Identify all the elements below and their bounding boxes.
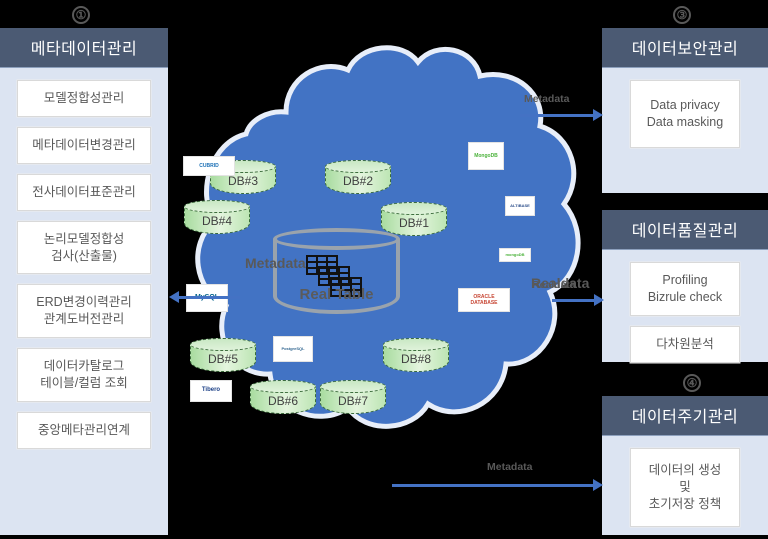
arrow-metadata-to-security	[520, 114, 594, 117]
panel-lifecycle-body: 데이터의 생성 및 초기저장 정책	[602, 436, 768, 539]
arrow-label-realdata: Realdata	[532, 279, 576, 291]
logo-oracle-icon: ORACLE DATABASE	[458, 288, 510, 312]
logo-postgresql-icon: PostgreSQL	[273, 336, 313, 362]
step-marker-4: ④	[683, 374, 701, 392]
db-cylinder-label: DB#4	[184, 214, 250, 228]
db-cylinder-label: DB#7	[320, 394, 386, 408]
panel-metadata-management: 메타데이터관리 모델정합성관리 메타데이터변경관리 전사데이터표준관리 논리모델…	[0, 28, 168, 535]
db-cylinder-label: DB#3	[210, 174, 276, 188]
step-marker-3: ③	[673, 6, 691, 24]
db-cylinder-label: DB#8	[383, 352, 449, 366]
panel-data-lifecycle-management: 데이터주기관리 데이터의 생성 및 초기저장 정책	[602, 396, 768, 535]
panel-security-body: Data privacy Data masking	[602, 68, 768, 193]
card-data-creation-policy[interactable]: 데이터의 생성 및 초기저장 정책	[630, 448, 740, 527]
arrow-realdata-to-quality	[552, 299, 595, 302]
db-cylinder-db6: DB#6	[250, 380, 316, 420]
panel-quality-body: Profiling Bizrule check 다차원분석	[602, 250, 768, 375]
card-metadata-change[interactable]: 메타데이터변경관리	[17, 127, 151, 164]
db-cylinder-db5: DB#5	[190, 338, 256, 378]
db-cylinder-top	[250, 380, 316, 393]
db-cylinder-db8: DB#8	[383, 338, 449, 378]
arrow-label-metadata-top: Metadata	[524, 93, 570, 105]
panel-data-security-management: 데이터보안관리 Data privacy Data masking	[602, 28, 768, 193]
panel-lifecycle-title: 데이터주기관리	[602, 396, 768, 436]
panel-metadata-body: 모델정합성관리 메타데이터변경관리 전사데이터표준관리 논리모델정합성 검사(산…	[0, 68, 168, 535]
db-cylinder-db2: DB#2	[325, 160, 391, 200]
db-cylinder-top	[381, 202, 447, 215]
db-cylinder-label: DB#6	[250, 394, 316, 408]
arrow-metadata-to-lifecycle	[392, 484, 594, 487]
cloud-metadata-label: Metadata	[245, 255, 306, 271]
cloud-diagram: Real Table Metadata Realdata DB#3DB#2DB#…	[168, 0, 602, 535]
card-enterprise-standard[interactable]: 전사데이터표준관리	[17, 174, 151, 211]
db-cylinder-top	[383, 338, 449, 351]
db-cylinder-top	[184, 200, 250, 213]
step-marker-1: ①	[72, 6, 90, 24]
db-cylinder-label: DB#2	[325, 174, 391, 188]
card-erd-change-history[interactable]: ERD변경이력관리 관계도버전관리	[17, 284, 151, 338]
panel-quality-title: 데이터품질관리	[602, 210, 768, 250]
card-logical-model-check[interactable]: 논리모델정합성 검사(산출물)	[17, 221, 151, 275]
db-cylinder-label: DB#1	[381, 216, 447, 230]
arrow-label-metadata-bottom: Metadata	[487, 461, 533, 473]
db-cylinder-top	[325, 160, 391, 173]
real-table-label: Real Table	[273, 286, 400, 303]
logo-mongodb-icon: MongoDB	[468, 142, 504, 170]
logo-mongodb-2-icon: mongoDB	[499, 248, 531, 262]
db-cylinder-label: DB#5	[190, 352, 256, 366]
db-cylinder-top	[190, 338, 256, 351]
card-central-meta-link[interactable]: 중앙메타관리연계	[17, 412, 151, 449]
arrow-cloud-to-metadata	[178, 296, 240, 299]
db-cylinder-db1: DB#1	[381, 202, 447, 242]
db-cylinder-db7: DB#7	[320, 380, 386, 420]
logo-tibero-icon: Tibero	[190, 380, 232, 402]
db-cylinder-db4: DB#4	[184, 200, 250, 240]
panel-data-quality-management: 데이터품질관리 Profiling Bizrule check 다차원분석	[602, 210, 768, 362]
logo-altibase-icon: ALTIBASE	[505, 196, 535, 216]
card-multidimensional-analysis[interactable]: 다차원분석	[630, 326, 740, 363]
panel-metadata-title: 메타데이터관리	[0, 28, 168, 68]
panel-security-title: 데이터보안관리	[602, 28, 768, 68]
card-data-catalog[interactable]: 데이터카탈로그 테이블/컬럼 조회	[17, 348, 151, 402]
card-data-privacy-masking[interactable]: Data privacy Data masking	[630, 80, 740, 148]
card-model-consistency[interactable]: 모델정합성관리	[17, 80, 151, 117]
card-profiling-bizrule[interactable]: Profiling Bizrule check	[630, 262, 740, 316]
logo-cubrid-icon: CUBRID	[183, 156, 235, 176]
db-cylinder-top	[320, 380, 386, 393]
